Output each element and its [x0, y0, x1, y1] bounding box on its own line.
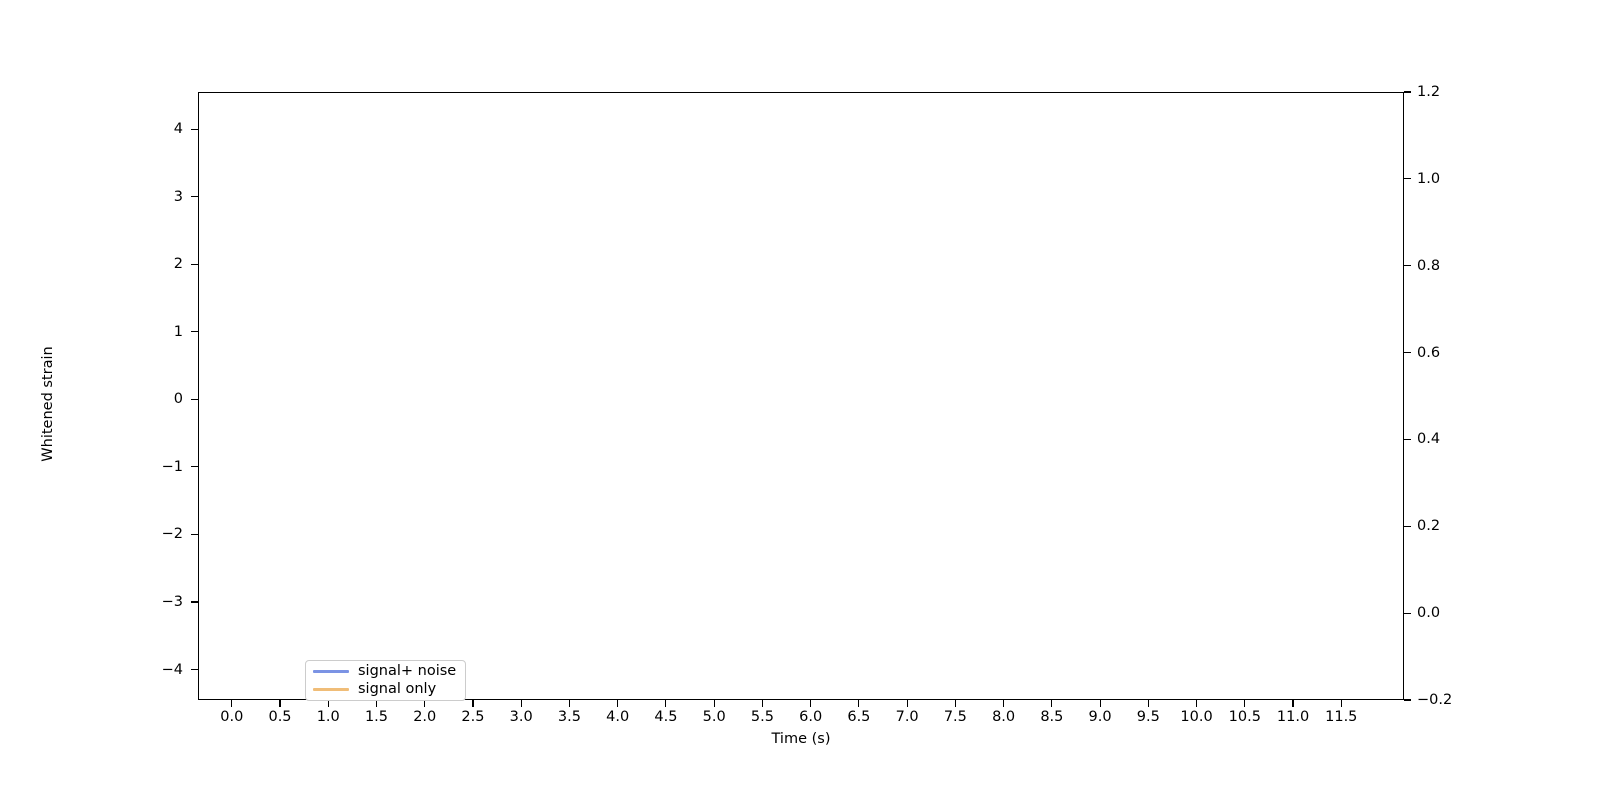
x-tick-mark [472, 700, 473, 707]
matplotlib-figure: −4−3−2−101234−0.20.00.20.40.60.81.01.20.… [0, 0, 1600, 800]
legend-label-signal-only: signal only [358, 682, 436, 697]
x-tick-mark [231, 700, 232, 707]
x-tick-mark [1148, 700, 1149, 707]
x-tick-mark [907, 700, 908, 707]
y-tick-label-right: 0.2 [1417, 518, 1487, 534]
x-tick-mark [521, 700, 522, 707]
y-tick-mark-right [1404, 439, 1411, 440]
y-tick-mark-right [1404, 91, 1411, 92]
y-tick-mark-left [191, 331, 198, 332]
y-tick-label-left: 1 [123, 324, 183, 340]
x-tick-mark [1244, 700, 1245, 707]
y-tick-label-right: 0.0 [1417, 605, 1487, 621]
x-tick-mark [1196, 700, 1197, 707]
legend-swatch-signal-noise [313, 670, 349, 673]
y-tick-label-right: 0.6 [1417, 345, 1487, 361]
x-tick-mark [376, 700, 377, 707]
y-tick-mark-right [1404, 613, 1411, 614]
y-tick-label-right: 1.2 [1417, 84, 1487, 100]
x-tick-mark [665, 700, 666, 707]
y-tick-label-left: −4 [123, 662, 183, 678]
y-tick-label-right: 0.8 [1417, 258, 1487, 274]
axes-frame [198, 92, 1404, 700]
y-tick-label-right: 1.0 [1417, 171, 1487, 187]
legend-item-signal-noise[interactable]: signal+ noise [313, 664, 458, 679]
x-tick-mark [617, 700, 618, 707]
y-tick-label-right: 0.4 [1417, 431, 1487, 447]
x-tick-mark [569, 700, 570, 707]
y-tick-label-left: 2 [123, 256, 183, 272]
y-tick-label-left: 3 [123, 189, 183, 205]
x-tick-label: 11.5 [1311, 709, 1371, 725]
chart-legend[interactable]: signal+ noise signal only [305, 660, 466, 701]
y-tick-mark-left [191, 466, 198, 467]
y-tick-mark-left [191, 264, 198, 265]
y-tick-label-left: 4 [123, 121, 183, 137]
y-axis-label: Whitened strain [40, 294, 56, 514]
x-tick-mark [1341, 700, 1342, 707]
x-tick-mark [714, 700, 715, 707]
x-axis-label: Time (s) [198, 731, 1404, 747]
legend-swatch-signal-only [313, 688, 349, 691]
y-tick-label-left: −3 [123, 594, 183, 610]
legend-item-signal-only[interactable]: signal only [313, 682, 458, 697]
y-tick-mark-right [1404, 265, 1411, 266]
y-tick-mark-left [191, 534, 198, 535]
y-tick-label-left: −1 [123, 459, 183, 475]
y-tick-mark-left [191, 129, 198, 130]
y-tick-label-right: −0.2 [1417, 692, 1487, 708]
y-tick-label-left: −2 [123, 526, 183, 542]
x-tick-mark [1051, 700, 1052, 707]
x-tick-mark [424, 700, 425, 707]
y-tick-mark-left [191, 669, 198, 670]
legend-label-signal-noise: signal+ noise [358, 664, 456, 679]
y-tick-mark-right [1404, 352, 1411, 353]
x-tick-mark [810, 700, 811, 707]
y-tick-mark-right [1404, 178, 1411, 179]
x-tick-mark [858, 700, 859, 707]
x-tick-mark [1292, 700, 1293, 707]
x-tick-mark [1100, 700, 1101, 707]
x-tick-mark [279, 700, 280, 707]
y-tick-mark-left [191, 601, 198, 602]
x-tick-mark [762, 700, 763, 707]
y-tick-mark-right [1404, 699, 1411, 700]
y-tick-label-left: 0 [123, 391, 183, 407]
x-tick-mark [955, 700, 956, 707]
y-tick-mark-right [1404, 526, 1411, 527]
x-tick-mark [328, 700, 329, 707]
y-tick-mark-left [191, 196, 198, 197]
x-tick-mark [1003, 700, 1004, 707]
y-tick-mark-left [191, 399, 198, 400]
